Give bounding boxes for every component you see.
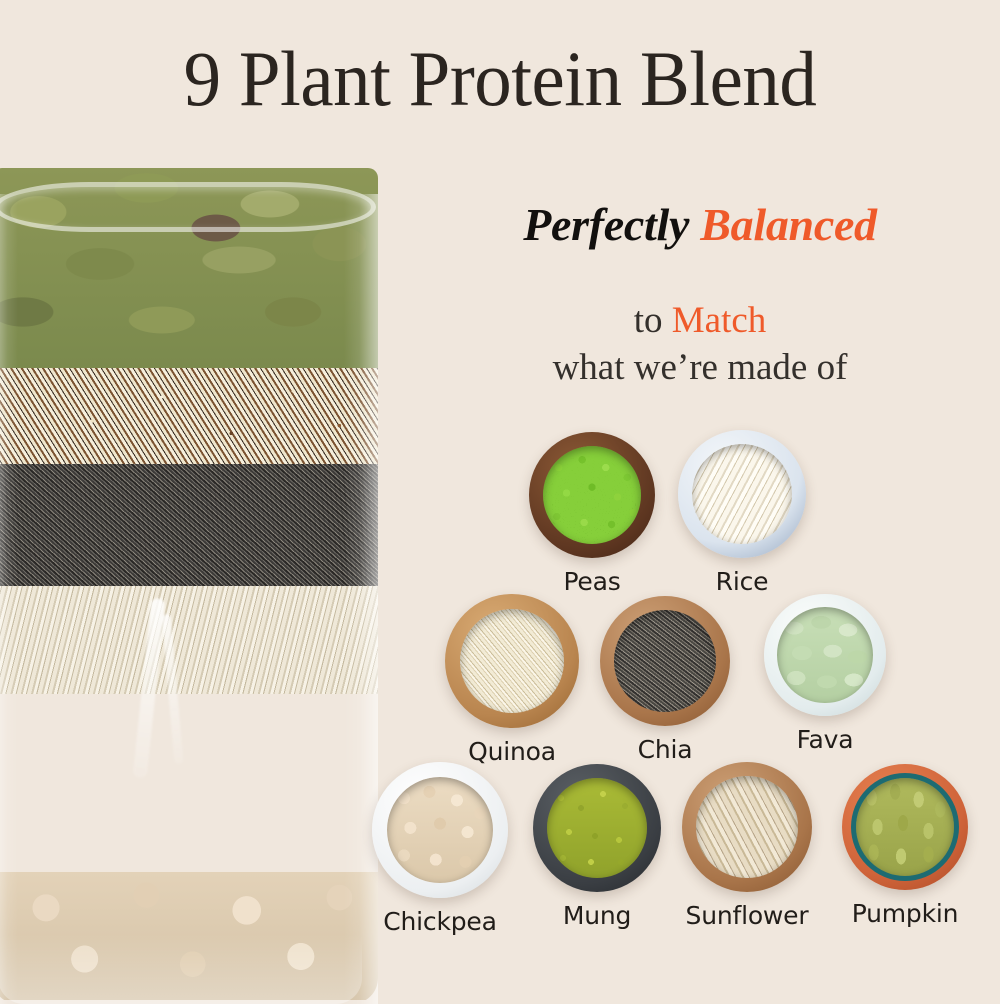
bowl-label: Chickpea — [372, 907, 508, 936]
bowl-of-mung-icon — [533, 764, 661, 892]
bowl-cell-peas[interactable]: Peas — [529, 432, 655, 596]
bowl-cell-sunflower[interactable]: Sunflower — [682, 762, 812, 930]
bowl-of-sunflower-icon — [682, 762, 812, 892]
bowl-cell-pumpkin[interactable]: Pumpkin — [842, 764, 968, 928]
bowl-label: Fava — [764, 725, 886, 754]
bowl-of-fava-icon — [764, 594, 886, 716]
bowl-contents-chickpea — [387, 777, 493, 883]
bowl-contents-chia — [614, 610, 715, 711]
ingredient-bowl-grid: PeasRiceQuinoaChiaFavaChickpeaMungSunflo… — [0, 0, 1000, 1004]
bowl-cell-quinoa[interactable]: Quinoa — [445, 594, 579, 766]
bowl-of-rice-icon — [678, 430, 806, 558]
bowl-contents-peas — [543, 446, 641, 544]
bowl-label: Pumpkin — [842, 899, 968, 928]
bowl-label: Peas — [529, 567, 655, 596]
bowl-cell-mung[interactable]: Mung — [533, 764, 661, 930]
bowl-cell-chia[interactable]: Chia — [600, 596, 730, 764]
bowl-cell-fava[interactable]: Fava — [764, 594, 886, 754]
bowl-contents-pumpkin — [856, 778, 954, 876]
bowl-of-peas-icon — [529, 432, 655, 558]
bowl-cell-chickpea[interactable]: Chickpea — [372, 762, 508, 936]
bowl-contents-quinoa — [460, 609, 565, 714]
bowl-label: Rice — [678, 567, 806, 596]
bowl-label: Sunflower — [682, 901, 812, 930]
bowl-contents-rice — [692, 444, 792, 544]
bowl-cell-rice[interactable]: Rice — [678, 430, 806, 596]
bowl-contents-mung — [547, 778, 647, 878]
bowl-label: Mung — [533, 901, 661, 930]
bowl-contents-fava — [777, 607, 872, 702]
bowl-of-quinoa-icon — [445, 594, 579, 728]
bowl-contents-sunflower — [696, 776, 797, 877]
bowl-label: Chia — [600, 735, 730, 764]
bowl-of-chickpeas-icon — [372, 762, 508, 898]
bowl-of-chia-icon — [600, 596, 730, 726]
bowl-of-pumpkin-icon — [842, 764, 968, 890]
